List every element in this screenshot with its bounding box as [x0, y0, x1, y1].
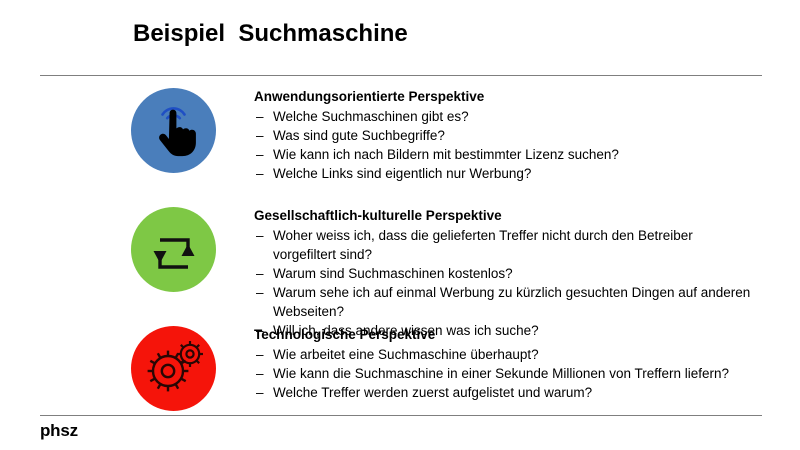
section-bullet-list: – Woher weiss ich, dass die gelieferten …: [254, 226, 754, 340]
gears-icon: [131, 326, 216, 411]
tap-hand-icon: [131, 88, 216, 173]
list-item: – Wie kann ich nach Bildern mit bestimmt…: [254, 145, 754, 164]
cycle-loop-icon-badge: [131, 207, 216, 292]
list-item: – Warum sind Suchmaschinen kostenlos?: [254, 264, 754, 283]
page-title: Beispiel Suchmaschine: [133, 20, 408, 48]
gears-icon-badge: [131, 326, 216, 411]
list-item: – Woher weiss ich, dass die gelieferten …: [254, 226, 754, 264]
bullet-dash: –: [256, 226, 264, 245]
bullet-dash: –: [256, 145, 264, 164]
bullet-text: Wie arbeitet eine Suchmaschine überhaupt…: [273, 345, 754, 364]
section-heading: Anwendungsorientierte Perspektive: [254, 88, 754, 106]
section-heading: Gesellschaftlich-kulturelle Perspektive: [254, 207, 754, 225]
list-item: – Was sind gute Suchbegriffe?: [254, 126, 754, 145]
list-item: – Welche Suchmaschinen gibt es?: [254, 107, 754, 126]
bullet-dash: –: [256, 283, 264, 302]
list-item: – Wie arbeitet eine Suchmaschine überhau…: [254, 345, 754, 364]
bullet-text: Welche Suchmaschinen gibt es?: [273, 107, 754, 126]
header-divider: [40, 75, 762, 76]
phsz-logo: phsz: [40, 421, 78, 441]
bullet-dash: –: [256, 264, 264, 283]
footer-divider: [40, 415, 762, 416]
bullet-text: Wie kann die Suchmaschine in einer Sekun…: [273, 364, 754, 383]
bullet-text: Warum sind Suchmaschinen kostenlos?: [273, 264, 754, 283]
tap-hand-icon-badge: [131, 88, 216, 173]
section-bullet-list: – Wie arbeitet eine Suchmaschine überhau…: [254, 345, 754, 402]
list-item: – Welche Links sind eigentlich nur Werbu…: [254, 164, 754, 183]
bullet-text: Was sind gute Suchbegriffe?: [273, 126, 754, 145]
bullet-dash: –: [256, 126, 264, 145]
cycle-loop-icon: [131, 207, 216, 292]
bullet-dash: –: [256, 345, 264, 364]
slide-canvas: Beispiel Suchmaschine Anwendungsorientie…: [0, 0, 800, 450]
list-item: – Warum sehe ich auf einmal Werbung zu k…: [254, 283, 754, 321]
list-item: – Wie kann die Suchmaschine in einer Sek…: [254, 364, 754, 383]
bullet-dash: –: [256, 164, 264, 183]
section-bullet-list: – Welche Suchmaschinen gibt es? – Was si…: [254, 107, 754, 183]
bullet-dash: –: [256, 107, 264, 126]
section-text-social: Gesellschaftlich-kulturelle Perspektive …: [254, 207, 754, 340]
bullet-text: Welche Links sind eigentlich nur Werbung…: [273, 164, 754, 183]
bullet-text: Welche Treffer werden zuerst aufgelistet…: [273, 383, 754, 402]
section-text-application: Anwendungsorientierte Perspektive – Welc…: [254, 88, 754, 183]
section-heading: Technologische Perspektive: [254, 326, 754, 344]
bullet-dash: –: [256, 364, 264, 383]
bullet-text: Warum sehe ich auf einmal Werbung zu kür…: [273, 283, 754, 321]
bullet-dash: –: [256, 383, 264, 402]
section-text-technology: Technologische Perspektive – Wie arbeite…: [254, 326, 754, 402]
bullet-text: Wie kann ich nach Bildern mit bestimmter…: [273, 145, 754, 164]
list-item: – Welche Treffer werden zuerst aufgelist…: [254, 383, 754, 402]
bullet-text: Woher weiss ich, dass die gelieferten Tr…: [273, 226, 754, 264]
